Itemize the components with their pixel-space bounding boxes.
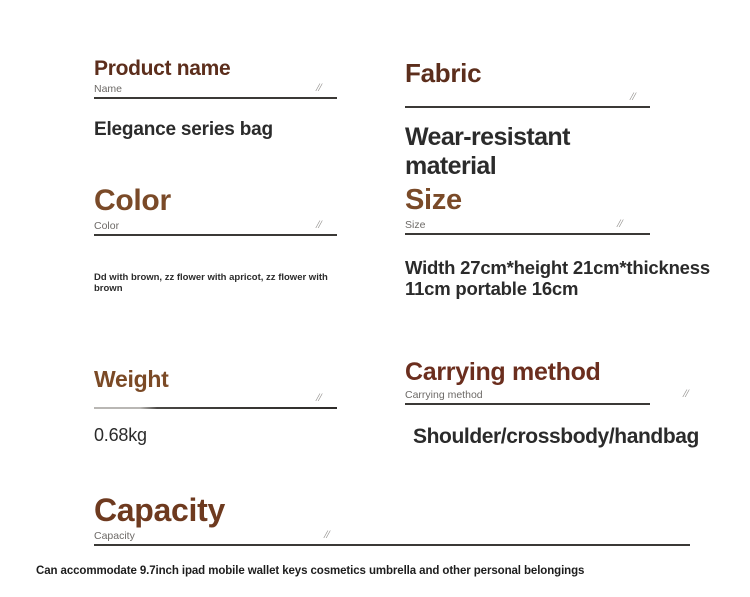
spec-subtitle-product-name: Name <box>94 84 122 95</box>
spec-field-capacity: Capacity Capacity // <box>94 494 690 546</box>
double-slash-icon: // <box>617 217 622 229</box>
spec-value-color: Dd with brown, zz flower with apricot, z… <box>94 272 337 294</box>
spec-field-fabric: Fabric // Wear-resistant material <box>405 60 650 182</box>
spec-subtitle-row-carrying-method: Carrying method // <box>405 385 650 400</box>
spec-subtitle-size: Size <box>405 220 425 231</box>
spec-divider-fabric <box>405 106 650 108</box>
spec-subtitle-row-weight: // <box>94 391 337 404</box>
spec-value-size: Width 27cm*height 21cm*thickness 11cm po… <box>405 257 741 301</box>
spec-subtitle-carrying-method: Carrying method <box>405 390 483 401</box>
double-slash-icon: // <box>316 81 321 93</box>
spec-subtitle-row-color: Color // <box>94 216 337 231</box>
spec-subtitle-row-product-name: Name // <box>94 79 337 94</box>
capacity-description-note: Can accommodate 9.7inch ipad mobile wall… <box>36 566 726 578</box>
spec-heading-color: Color <box>94 186 337 216</box>
spec-heading-fabric: Fabric <box>405 60 650 86</box>
spec-field-carrying-method: Carrying method Carrying method // Shoul… <box>405 360 650 449</box>
product-spec-sheet: Product name Name // Elegance series bag… <box>0 0 750 597</box>
double-slash-icon: // <box>683 387 688 399</box>
spec-subtitle-row-capacity: Capacity // <box>94 526 690 541</box>
double-slash-icon: // <box>316 391 321 403</box>
spec-divider-color <box>94 234 337 236</box>
spec-subtitle-row-size: Size // <box>405 215 650 230</box>
spec-divider-carrying-method <box>405 403 650 405</box>
spec-subtitle-row-fabric: // <box>405 86 650 103</box>
spec-field-size: Size Size // Width 27cm*height 21cm*thic… <box>405 186 650 300</box>
spec-field-product-name: Product name Name // Elegance series bag <box>94 58 337 141</box>
spec-value-product-name: Elegance series bag <box>94 119 337 141</box>
spec-divider-size <box>405 233 650 235</box>
spec-field-weight: Weight // 0.68kg <box>94 368 337 446</box>
spec-heading-product-name: Product name <box>94 58 337 79</box>
spec-divider-weight <box>94 407 337 409</box>
spec-heading-capacity: Capacity <box>94 494 690 526</box>
double-slash-icon: // <box>630 90 635 102</box>
spec-value-fabric: Wear-resistant material <box>405 123 650 182</box>
double-slash-icon: // <box>316 218 321 230</box>
spec-heading-carrying-method: Carrying method <box>405 360 650 385</box>
spec-divider-product-name <box>94 97 337 99</box>
spec-value-carrying-method: Shoulder/crossbody/handbag <box>413 425 650 450</box>
spec-subtitle-color: Color <box>94 221 119 232</box>
spec-heading-weight: Weight <box>94 368 337 391</box>
spec-heading-size: Size <box>405 186 650 215</box>
spec-subtitle-capacity: Capacity <box>94 531 135 542</box>
spec-value-weight: 0.68kg <box>94 425 337 446</box>
double-slash-icon: // <box>324 528 329 540</box>
spec-field-color: Color Color // Dd with brown, zz flower … <box>94 186 337 294</box>
spec-divider-capacity <box>94 544 690 546</box>
